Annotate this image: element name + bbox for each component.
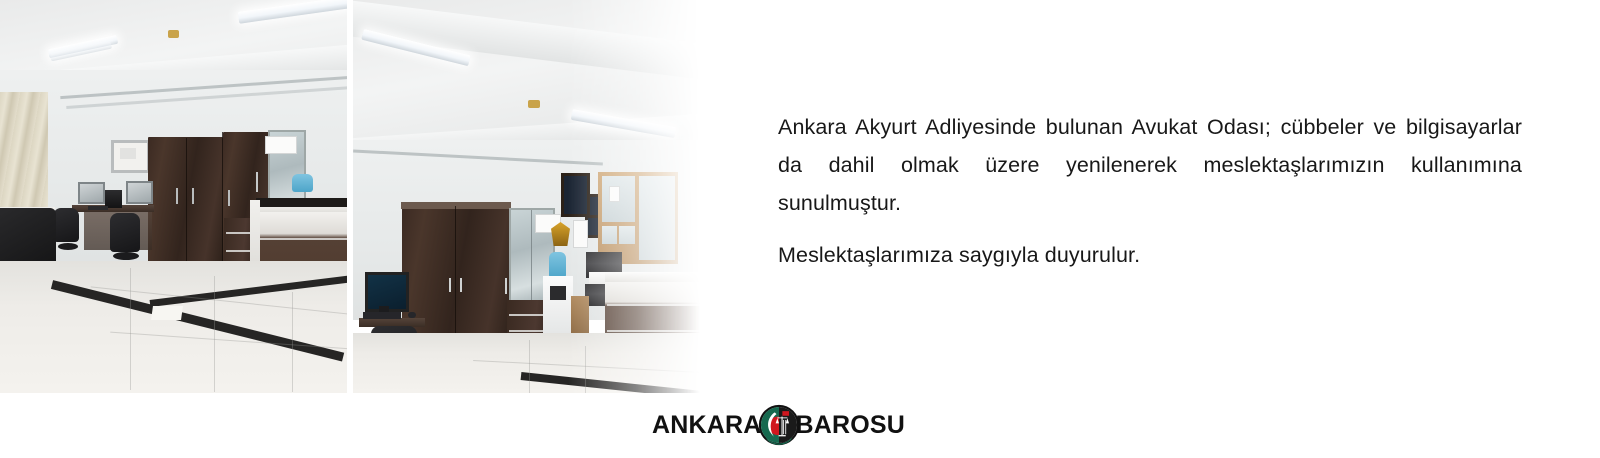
wardrobe-handle xyxy=(449,278,451,292)
ceiling-fixture xyxy=(528,100,540,108)
counter-band xyxy=(256,198,347,207)
photo-office-overview xyxy=(0,0,347,393)
wardrobe-seam xyxy=(186,138,187,266)
keyboard xyxy=(363,312,401,319)
monitor xyxy=(78,182,105,204)
mouse xyxy=(408,312,416,318)
counter-line xyxy=(258,238,347,240)
announcement-text: Ankara Akyurt Adliyesinde bulunan Avukat… xyxy=(778,108,1522,274)
glass-cabinet-seam xyxy=(531,210,532,302)
office-chair xyxy=(110,213,140,252)
wardrobe-handle xyxy=(460,278,462,292)
window-curtain xyxy=(0,92,48,217)
water-jug xyxy=(292,174,313,192)
paragraph-spacer xyxy=(778,222,1522,236)
water-jug xyxy=(549,252,566,278)
cabinet-handle xyxy=(256,172,258,192)
announcement-paragraph-1: Ankara Akyurt Adliyesinde bulunan Avukat… xyxy=(778,108,1522,222)
photo-1-scene xyxy=(0,0,347,393)
door-notice xyxy=(609,186,620,202)
tile-line xyxy=(292,292,293,392)
wall-portrait xyxy=(561,173,590,217)
keyboard xyxy=(88,206,108,210)
logo-word-ankara: ANKARA xyxy=(652,413,762,438)
floor-paper xyxy=(151,306,183,320)
door-glass-panel xyxy=(639,176,675,260)
ankara-barosu-logo: ANKARA xyxy=(676,404,881,446)
tile-line xyxy=(529,340,530,393)
announcement-paragraph-2: Meslektaşlarımıza saygıyla duyurulur. xyxy=(778,236,1522,274)
tile-line xyxy=(214,276,215,392)
monitor xyxy=(126,181,153,204)
wardrobe-handle xyxy=(228,190,230,206)
door-glass-panel xyxy=(619,226,635,244)
glass-cabinet-handle xyxy=(505,278,507,294)
ankara-barosu-emblem-icon xyxy=(758,404,800,446)
wall-notice xyxy=(573,220,588,248)
tile-line xyxy=(130,268,131,390)
wardrobe-top xyxy=(401,202,511,209)
office-chair xyxy=(53,208,79,242)
cabinet-sign xyxy=(265,136,297,154)
chair-base xyxy=(113,252,139,260)
announcement-page: Ankara Akyurt Adliyesinde bulunan Avukat… xyxy=(0,0,1600,458)
cardboard-box xyxy=(571,296,589,336)
wardrobe-handle xyxy=(176,188,178,204)
ceiling-fixture xyxy=(168,30,179,38)
door-glass-panel xyxy=(602,226,617,244)
wardrobe-handle xyxy=(192,188,194,204)
photo-office-cabinets xyxy=(353,0,700,393)
logo-word-barosu: BAROSU xyxy=(796,413,906,438)
wall-frame-paper xyxy=(120,148,136,159)
tile-line xyxy=(585,346,586,393)
chair-base xyxy=(58,243,78,250)
counter-line xyxy=(607,330,700,332)
counter-line xyxy=(607,304,700,306)
water-dispenser-tap xyxy=(550,286,566,300)
photo-2-scene xyxy=(353,0,700,393)
